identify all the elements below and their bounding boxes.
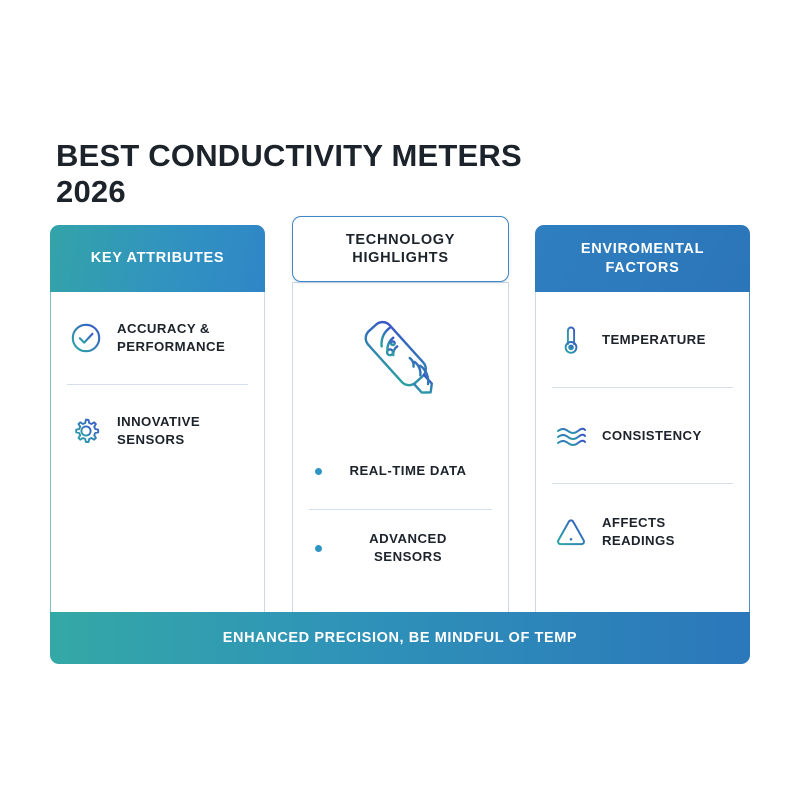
list-item[interactable]: ACCURACY & PERFORMANCE (51, 292, 264, 384)
infographic-poster: BEST CONDUCTIVITY METERS 2026 KEY ATTRIB… (0, 0, 800, 800)
list-item[interactable]: INNOVATIVE SENSORS (51, 385, 264, 477)
gear-icon (69, 414, 103, 448)
column-technology-highlights: TECHNOLOGY HIGHLIGHTS (292, 225, 509, 621)
column-body-enviromental-factors: TEMPERATURE (535, 292, 750, 622)
waves-icon (554, 419, 588, 453)
list-item[interactable]: AFFECTS READINGS (536, 484, 749, 579)
list-item-label: AFFECTS READINGS (602, 514, 735, 550)
illustration-area (293, 283, 508, 433)
bullet-dot-icon (315, 545, 322, 552)
list-item[interactable]: CONSISTENCY (536, 388, 749, 483)
column-header-technology-highlights: TECHNOLOGY HIGHLIGHTS (292, 216, 509, 282)
column-enviromental-factors: ENVIROMENTAL FACTORS (535, 225, 750, 622)
list-item-label: REAL-TIME DATA (336, 462, 492, 480)
column-body-technology-highlights: REAL-TIME DATA ADVANCED SENSORS (292, 282, 509, 621)
list-item[interactable]: TEMPERATURE (536, 292, 749, 387)
list-item-label: INNOVATIVE SENSORS (117, 413, 250, 449)
column-key-attributes: KEY ATTRIBUTES (50, 225, 265, 622)
list-item-label: ADVANCED SENSORS (336, 530, 492, 566)
page-title: BEST CONDUCTIVITY METERS 2026 (56, 138, 576, 211)
warning-triangle-icon (554, 515, 588, 549)
thermometer-icon (554, 323, 588, 357)
bullet-dot-icon (315, 468, 322, 475)
check-circle-icon (69, 321, 103, 355)
column-header-enviromental-factors: ENVIROMENTAL FACTORS (535, 225, 750, 292)
column-body-key-attributes: ACCURACY & PERFORMANCE (50, 292, 265, 622)
list-item-label: CONSISTENCY (602, 427, 702, 445)
conductivity-probe-icon (338, 303, 464, 419)
list-item[interactable]: ADVANCED SENSORS (293, 510, 508, 586)
list-item-label: ACCURACY & PERFORMANCE (117, 320, 250, 356)
list-item[interactable]: REAL-TIME DATA (293, 433, 508, 509)
columns-board: KEY ATTRIBUTES (50, 225, 750, 665)
footer-banner: ENHANCED PRECISION, BE MINDFUL OF TEMP (50, 612, 750, 664)
list-item-label: TEMPERATURE (602, 331, 706, 349)
column-header-key-attributes: KEY ATTRIBUTES (50, 225, 265, 292)
